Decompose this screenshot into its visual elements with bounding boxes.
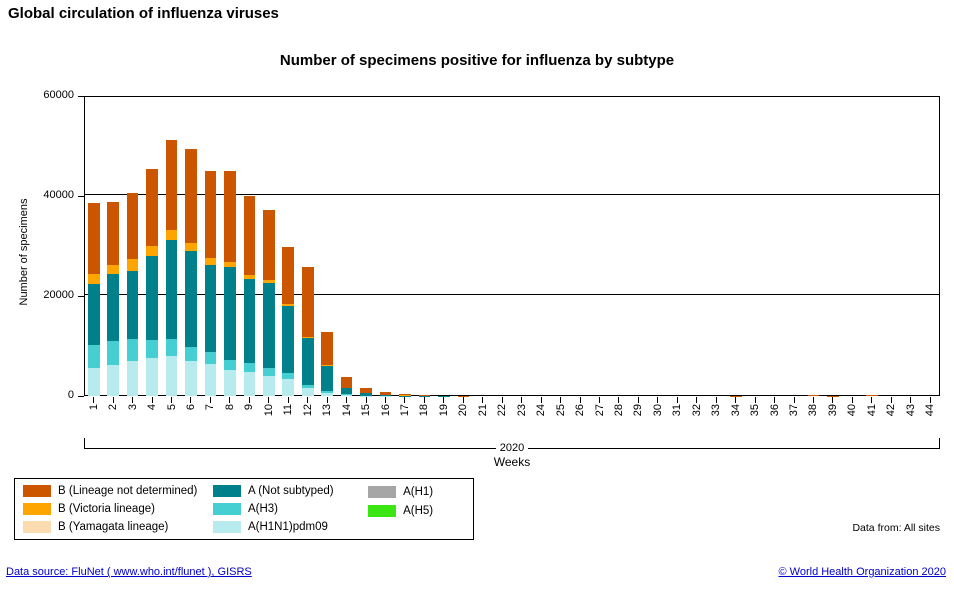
copyright-link[interactable]: © World Health Organization 2020 <box>779 566 947 578</box>
x-axis-tick-label: 21 <box>477 404 489 416</box>
x-axis-label-slot: 42 <box>882 404 901 430</box>
legend-swatch <box>23 485 51 497</box>
x-axis-label-slot: 44 <box>920 404 939 430</box>
x-axis-tick-label: 8 <box>224 404 236 410</box>
y-axis-label: Number of specimens <box>18 152 30 352</box>
x-axis-tick-label: 5 <box>166 404 178 410</box>
year-label: 2020 <box>84 442 940 454</box>
x-axis-tick-mark <box>774 397 775 403</box>
x-axis-tick <box>648 397 667 403</box>
x-axis-label-slot: 38 <box>804 404 823 430</box>
x-axis-tick <box>240 397 259 403</box>
x-axis-tick-mark <box>852 397 853 403</box>
x-axis-label-slot: 1 <box>84 404 103 430</box>
x-axis-ticks <box>84 397 940 403</box>
x-axis-label-slot: 32 <box>687 404 706 430</box>
x-axis-tick-mark <box>482 397 483 403</box>
x-axis-tick-mark <box>910 397 911 403</box>
data-from-note: Data from: All sites <box>852 522 940 534</box>
x-axis-tick-label: 10 <box>263 404 275 416</box>
x-axis-tick-mark <box>696 397 697 403</box>
x-axis-tick-mark <box>832 397 833 403</box>
legend-item-label: B (Yamagata lineage) <box>58 521 168 533</box>
x-axis-tick-label: 7 <box>204 404 216 410</box>
x-axis-tick-label: 2 <box>107 404 119 410</box>
x-axis-tick <box>415 397 434 403</box>
x-axis-tick-label: 30 <box>652 404 664 416</box>
x-axis-tick-mark <box>93 397 94 403</box>
x-axis-tick <box>609 397 628 403</box>
x-axis-tick <box>298 397 317 403</box>
x-axis-tick-mark <box>113 397 114 403</box>
x-axis-tick <box>745 397 764 403</box>
x-axis-label-slot: 19 <box>434 404 453 430</box>
x-axis-label-slot: 41 <box>862 404 881 430</box>
x-axis-tick-label: 23 <box>516 404 528 416</box>
x-axis-tick-label: 24 <box>535 404 547 416</box>
x-axis-tick-label: 29 <box>632 404 644 416</box>
x-axis-label-slot: 3 <box>123 404 142 430</box>
x-axis-label-slot: 24 <box>531 404 550 430</box>
x-axis-tick <box>823 397 842 403</box>
x-axis-tick-mark <box>580 397 581 403</box>
x-axis-tick <box>804 397 823 403</box>
legend-item[interactable]: A(H1) <box>368 485 465 499</box>
x-axis-label-slot: 11 <box>279 404 298 430</box>
y-axis-tick-mark <box>78 296 84 297</box>
x-axis-tick-label: 42 <box>885 404 897 416</box>
x-axis-tick <box>259 397 278 403</box>
x-axis-tick-mark <box>190 397 191 403</box>
x-axis-label-slot: 33 <box>707 404 726 430</box>
x-axis-tick-label: 34 <box>730 404 742 416</box>
x-axis-label-slot: 8 <box>220 404 239 430</box>
x-axis-tick-label: 38 <box>807 404 819 416</box>
x-axis-label-slot: 10 <box>259 404 278 430</box>
chart-title: Number of specimens positive for influen… <box>0 52 954 69</box>
x-axis-tick <box>201 397 220 403</box>
x-axis-tick-mark <box>385 397 386 403</box>
x-axis-tick-label: 31 <box>671 404 683 416</box>
data-source-link[interactable]: Data source: FluNet ( www.who.int/flunet… <box>6 566 252 578</box>
x-axis-label-slot: 31 <box>668 404 687 430</box>
x-axis-tick-label: 4 <box>146 404 158 410</box>
legend-swatch <box>213 521 241 533</box>
x-axis-tick <box>493 397 512 403</box>
x-axis-tick-mark <box>424 397 425 403</box>
legend-item-label: A(H3) <box>248 503 278 515</box>
x-axis-tick <box>123 397 142 403</box>
legend-column: B (Lineage not determined)B (Victoria li… <box>23 485 213 533</box>
x-axis-tick <box>337 397 356 403</box>
x-axis-label-slot: 18 <box>415 404 434 430</box>
x-axis-tick <box>395 397 414 403</box>
x-axis-tick <box>434 397 453 403</box>
x-axis-tick-label: 11 <box>282 404 294 415</box>
legend-item[interactable]: B (Yamagata lineage) <box>23 520 213 533</box>
y-axis-tick-label: 20000 <box>0 289 74 301</box>
x-axis-tick-label: 28 <box>613 404 625 416</box>
x-axis-tick-label: 32 <box>691 404 703 416</box>
x-axis-tick-label: 1 <box>88 404 100 410</box>
x-axis-label-slot: 20 <box>454 404 473 430</box>
x-axis-tick-mark <box>677 397 678 403</box>
x-axis-tick <box>862 397 881 403</box>
x-axis-tick-mark <box>755 397 756 403</box>
x-axis-tick <box>590 397 609 403</box>
x-axis-tick-mark <box>210 397 211 403</box>
legend-swatch <box>213 485 241 497</box>
legend-item[interactable]: B (Lineage not determined) <box>23 485 213 498</box>
legend-item-label: B (Victoria lineage) <box>58 503 155 515</box>
x-axis-tick <box>317 397 336 403</box>
x-axis-label-slot: 13 <box>317 404 336 430</box>
legend: B (Lineage not determined)B (Victoria li… <box>14 478 474 540</box>
x-axis-tick <box>512 397 531 403</box>
x-axis-tick <box>668 397 687 403</box>
x-axis-tick-label: 25 <box>555 404 567 416</box>
x-axis-tick-mark <box>871 397 872 403</box>
x-axis-tick <box>843 397 862 403</box>
x-axis-label-slot: 22 <box>493 404 512 430</box>
legend-item[interactable]: A(H5) <box>368 504 465 518</box>
x-axis-label-slot: 35 <box>745 404 764 430</box>
y-axis-tick-mark <box>78 96 84 97</box>
x-axis-tick <box>570 397 589 403</box>
x-axis-label-slot: 23 <box>512 404 531 430</box>
x-axis-label-slot: 6 <box>181 404 200 430</box>
x-axis-label-slot: 5 <box>162 404 181 430</box>
x-axis-label-slot: 21 <box>473 404 492 430</box>
x-axis-tick <box>629 397 648 403</box>
x-axis-tick-mark <box>618 397 619 403</box>
gridline <box>85 194 939 195</box>
x-axis-label-slot: 30 <box>648 404 667 430</box>
x-axis-tick-label: 44 <box>924 404 936 416</box>
x-axis-label-slot: 26 <box>570 404 589 430</box>
x-axis-tick-mark <box>288 397 289 403</box>
x-axis-tick-mark <box>366 397 367 403</box>
x-axis-tick-mark <box>346 397 347 403</box>
x-axis-tick-label: 3 <box>127 404 139 410</box>
x-axis-labels: 1234567891011121314151617181920212223242… <box>84 404 940 430</box>
x-axis-tick <box>726 397 745 403</box>
x-axis-tick <box>882 397 901 403</box>
x-axis-tick-label: 36 <box>769 404 781 416</box>
x-axis-tick-label: 37 <box>788 404 800 416</box>
legend-swatch <box>23 521 51 533</box>
legend-item-label: A(H1) <box>403 486 433 498</box>
x-axis-tick-label: 6 <box>185 404 197 410</box>
legend-item[interactable]: A(H1N1)pdm09 <box>213 520 368 533</box>
x-axis-tick <box>376 397 395 403</box>
x-axis-tick <box>687 397 706 403</box>
x-axis-tick <box>707 397 726 403</box>
plot-area <box>84 96 940 396</box>
x-axis-label-slot: 4 <box>142 404 161 430</box>
legend-columns: B (Lineage not determined)B (Victoria li… <box>23 485 465 533</box>
x-axis-tick-label: 18 <box>418 404 430 416</box>
year-bracket: 2020 <box>84 438 940 450</box>
legend-swatch <box>23 503 51 515</box>
x-axis-tick-mark <box>560 397 561 403</box>
x-axis-tick-label: 19 <box>438 404 450 416</box>
x-axis-label-slot: 36 <box>765 404 784 430</box>
year-value: 2020 <box>496 442 528 454</box>
x-axis-label-slot: 40 <box>843 404 862 430</box>
page-title: Global circulation of influenza viruses <box>8 5 279 22</box>
x-axis-tick-mark <box>599 397 600 403</box>
x-axis-tick <box>220 397 239 403</box>
x-axis-tick-mark <box>132 397 133 403</box>
x-axis-tick-mark <box>794 397 795 403</box>
legend-item[interactable]: A(H3) <box>213 503 368 516</box>
x-axis-tick-mark <box>152 397 153 403</box>
x-axis-tick-label: 12 <box>302 404 314 416</box>
x-axis-tick <box>920 397 939 403</box>
x-axis-tick-mark <box>735 397 736 403</box>
x-axis-tick-label: 13 <box>321 404 333 416</box>
x-axis-label-slot: 27 <box>590 404 609 430</box>
x-axis-label-slot: 34 <box>726 404 745 430</box>
x-axis-label-slot: 37 <box>784 404 803 430</box>
x-axis-tick-mark <box>404 397 405 403</box>
x-axis-label-slot: 9 <box>240 404 259 430</box>
x-axis-tick-mark <box>541 397 542 403</box>
x-axis-tick <box>784 397 803 403</box>
x-axis-tick-mark <box>327 397 328 403</box>
x-axis-tick-label: 9 <box>243 404 255 410</box>
x-axis-label-slot: 28 <box>609 404 628 430</box>
y-axis-tick-label: 60000 <box>0 89 74 101</box>
x-axis-tick-mark <box>443 397 444 403</box>
legend-item[interactable]: B (Victoria lineage) <box>23 503 213 516</box>
x-axis-tick-mark <box>229 397 230 403</box>
legend-item-label: A(H5) <box>403 505 433 517</box>
x-axis-tick <box>765 397 784 403</box>
x-axis-tick <box>279 397 298 403</box>
x-axis-tick-mark <box>502 397 503 403</box>
x-axis-tick-label: 43 <box>905 404 917 416</box>
x-axis-tick-mark <box>657 397 658 403</box>
legend-swatch <box>213 503 241 515</box>
x-axis-tick-label: 22 <box>496 404 508 416</box>
x-axis-label-slot: 17 <box>395 404 414 430</box>
x-axis-tick-mark <box>307 397 308 403</box>
x-axis-tick <box>103 397 122 403</box>
x-axis-tick-label: 35 <box>749 404 761 416</box>
x-axis-tick-mark <box>249 397 250 403</box>
x-axis-tick-label: 27 <box>594 404 606 416</box>
gridline <box>85 294 939 295</box>
x-axis-tick-label: 26 <box>574 404 586 416</box>
y-axis-tick-mark <box>78 196 84 197</box>
x-axis-tick <box>162 397 181 403</box>
x-axis-tick-label: 17 <box>399 404 411 416</box>
x-axis-label-slot: 39 <box>823 404 842 430</box>
legend-item[interactable]: A (Not subtyped) <box>213 485 368 498</box>
x-axis-tick-label: 33 <box>710 404 722 416</box>
x-axis-tick-mark <box>813 397 814 403</box>
legend-item-label: A (Not subtyped) <box>248 485 334 497</box>
x-axis-title: Weeks <box>84 455 940 469</box>
x-axis-label-slot: 12 <box>298 404 317 430</box>
x-axis-tick-label: 15 <box>360 404 372 416</box>
legend-swatch <box>368 505 396 517</box>
x-axis-label-slot: 15 <box>356 404 375 430</box>
legend-column: A(H1)A(H5) <box>368 485 465 533</box>
x-axis-tick-label: 14 <box>341 404 353 416</box>
x-axis-tick-label: 20 <box>457 404 469 416</box>
y-axis-tick-label: 40000 <box>0 189 74 201</box>
x-axis-label-slot: 43 <box>901 404 920 430</box>
x-axis-tick-mark <box>521 397 522 403</box>
legend-swatch <box>368 486 396 498</box>
x-axis-tick-mark <box>930 397 931 403</box>
x-axis-tick-mark <box>268 397 269 403</box>
y-axis-tick-label: 0 <box>0 389 74 401</box>
x-axis-label-slot: 25 <box>551 404 570 430</box>
x-axis-label-slot: 2 <box>103 404 122 430</box>
x-axis-tick-label: 41 <box>866 404 878 416</box>
x-axis-tick <box>181 397 200 403</box>
x-axis-tick <box>454 397 473 403</box>
x-axis-label-slot: 16 <box>376 404 395 430</box>
x-axis-tick-label: 40 <box>846 404 858 416</box>
x-axis-tick-mark <box>463 397 464 403</box>
x-axis-tick-mark <box>891 397 892 403</box>
legend-column: A (Not subtyped)A(H3)A(H1N1)pdm09 <box>213 485 368 533</box>
x-axis-tick-label: 39 <box>827 404 839 416</box>
x-axis-tick <box>473 397 492 403</box>
x-axis-label-slot: 7 <box>201 404 220 430</box>
x-axis-tick <box>84 397 103 403</box>
x-axis-tick <box>356 397 375 403</box>
legend-item-label: B (Lineage not determined) <box>58 485 197 497</box>
x-axis-tick <box>901 397 920 403</box>
x-axis-tick-label: 16 <box>380 404 392 416</box>
x-axis-tick <box>142 397 161 403</box>
x-axis-label-slot: 29 <box>629 404 648 430</box>
legend-item-label: A(H1N1)pdm09 <box>248 521 328 533</box>
x-axis-tick-mark <box>716 397 717 403</box>
x-axis-tick <box>531 397 550 403</box>
x-axis-label-slot: 14 <box>337 404 356 430</box>
x-axis-tick-mark <box>638 397 639 403</box>
x-axis-tick-mark <box>171 397 172 403</box>
x-axis-tick <box>551 397 570 403</box>
